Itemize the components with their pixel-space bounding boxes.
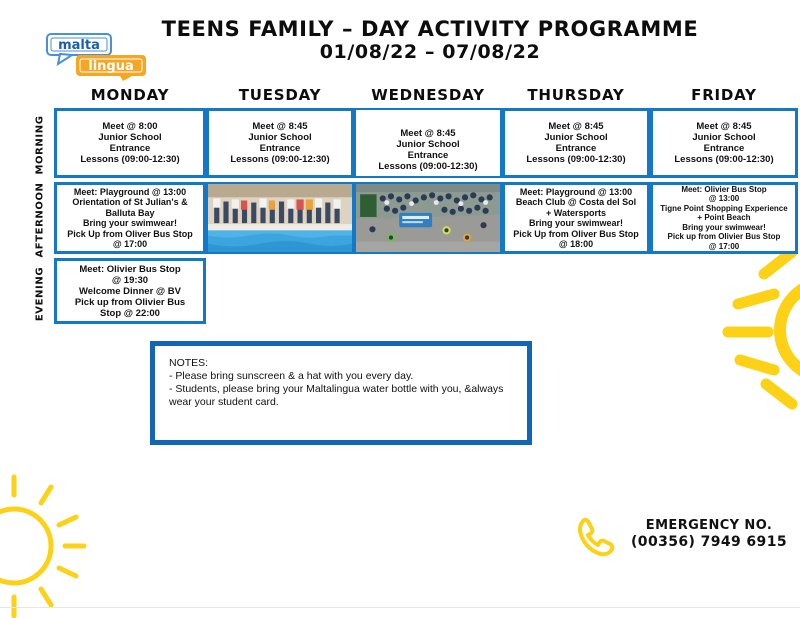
svg-text:malta: malta [58,38,100,53]
emergency-label: EMERGENCY NO. [619,518,799,534]
cell-evening-thursday [502,258,650,324]
cell-text: Meet: Playground @ 13:00 Beach Club @ Co… [513,187,639,250]
rowlabel-spacer [26,86,54,108]
rowlabel-morning: MORNING [26,108,54,182]
cell-text: Meet @ 8:45 Junior School Entrance Lesso… [526,121,625,165]
band-afternoon: AFTERNOON Meet: Playground @ 13:00 Orien… [26,182,774,258]
day-header-tuesday: TUESDAY [206,86,354,108]
cell-afternoon-monday[interactable]: Meet: Playground @ 13:00 Orientation of … [54,182,206,254]
cell-text: Meet @ 8:00 Junior School Entrance Lesso… [80,121,179,165]
cell-morning-thursday[interactable]: Meet @ 8:45 Junior School Entrance Lesso… [502,108,650,178]
cell-morning-tuesday[interactable]: Meet @ 8:45 Junior School Entrance Lesso… [206,108,354,178]
cell-morning-monday[interactable]: Meet @ 8:00 Junior School Entrance Lesso… [54,108,206,178]
day-header-monday: MONDAY [54,86,206,108]
cell-morning-wednesday[interactable]: Meet @ 8:45 Junior School Entrance Lesso… [354,108,502,178]
schedule-grid: MONDAY TUESDAY WEDNESDAY THURSDAY FRIDAY… [26,86,774,330]
cell-evening-wednesday [354,258,502,324]
bottom-divider [0,607,800,608]
rowlabel-evening-text: EVENING [35,267,46,321]
day-header-row: MONDAY TUESDAY WEDNESDAY THURSDAY FRIDAY [26,86,774,108]
cell-text: Meet @ 8:45 Junior School Entrance Lesso… [230,121,329,165]
cell-evening-tuesday [206,258,354,324]
svg-text:lingua: lingua [88,59,134,74]
notes-text: NOTES: - Please bring sunscreen & a hat … [169,357,519,409]
aerial-crowd-photo [356,184,500,252]
cell-morning-friday[interactable]: Meet @ 8:45 Junior School Entrance Lesso… [650,108,798,178]
cell-evening-friday [650,258,798,324]
programme-page: malta lingua TEENS FAMILY – DAY ACTIVITY… [0,0,800,618]
group-pool-photo [208,184,352,252]
day-header-thursday: THURSDAY [502,86,650,108]
maltalingua-logo: malta lingua [46,33,150,81]
logo-lingua-bubble: lingua [76,55,146,81]
rowlabel-evening: EVENING [26,258,54,330]
band-evening: EVENING Meet: Olivier Bus Stop @ 19:30 W… [26,258,774,330]
cell-text: Meet @ 8:45 Junior School Entrance Lesso… [378,128,477,172]
cell-text: Meet: Olivier Bus Stop @ 19:30 Welcome D… [75,264,185,319]
rowlabel-afternoon: AFTERNOON [26,182,54,258]
notes-box: NOTES: - Please bring sunscreen & a hat … [150,341,532,445]
rowlabel-afternoon-text: AFTERNOON [35,182,46,257]
afternoon-cells: Meet: Playground @ 13:00 Orientation of … [54,182,798,258]
cell-afternoon-friday[interactable]: Meet: Olivier Bus Stop @ 13:00 Tigne Poi… [650,182,798,254]
rowlabel-morning-text: MORNING [35,115,46,174]
emergency-text: EMERGENCY NO. (00356) 7949 6915 [619,518,799,551]
evening-cells: Meet: Olivier Bus Stop @ 19:30 Welcome D… [54,258,798,330]
page-title: TEENS FAMILY – DAY ACTIVITY PROGRAMME 01… [160,17,700,63]
day-header-wednesday: WEDNESDAY [354,86,502,108]
cell-afternoon-tuesday[interactable] [206,182,354,254]
emergency-block: EMERGENCY NO. (00356) 7949 6915 [575,512,795,568]
morning-cells: Meet @ 8:00 Junior School Entrance Lesso… [54,108,798,182]
sun-outline-icon [0,470,106,618]
cell-text: Meet @ 8:45 Junior School Entrance Lesso… [674,121,773,165]
phone-icon [575,515,615,557]
cell-afternoon-thursday[interactable]: Meet: Playground @ 13:00 Beach Club @ Co… [502,182,650,254]
emergency-number: (00356) 7949 6915 [619,534,799,551]
cell-text: Meet: Olivier Bus Stop @ 13:00 Tigne Poi… [660,185,787,252]
cell-evening-monday[interactable]: Meet: Olivier Bus Stop @ 19:30 Welcome D… [54,258,206,324]
title-line-2: 01/08/22 – 07/08/22 [160,41,700,63]
cell-text: Meet: Playground @ 13:00 Orientation of … [67,187,193,250]
day-header-friday: FRIDAY [650,86,798,108]
title-line-1: TEENS FAMILY – DAY ACTIVITY PROGRAMME [160,17,700,41]
band-morning: MORNING Meet @ 8:00 Junior School Entran… [26,108,774,182]
cell-afternoon-wednesday[interactable] [354,182,502,254]
